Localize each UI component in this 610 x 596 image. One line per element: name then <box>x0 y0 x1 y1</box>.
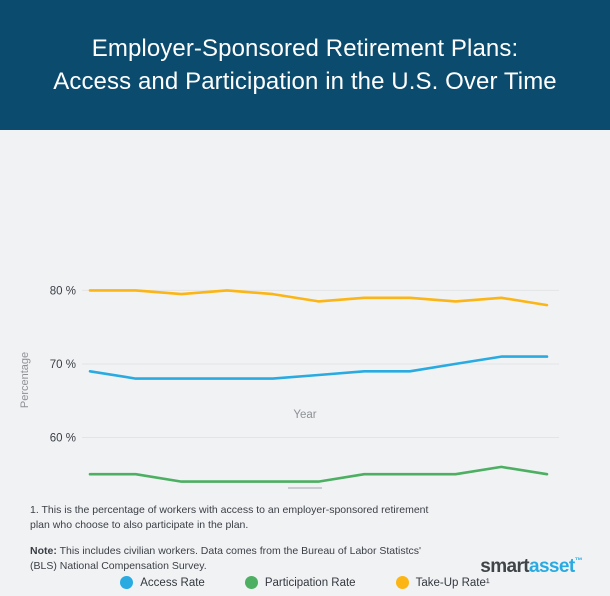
logo-text-asset: asset <box>529 556 575 578</box>
chart-footer: 1. This is the percentage of workers wit… <box>0 487 610 596</box>
y-tick-label: 80 % <box>50 285 76 297</box>
logo-trademark-icon: ™ <box>575 557 582 565</box>
y-axis-tick-labels: 50 %60 %70 %80 % <box>50 285 76 485</box>
series-line <box>90 290 547 305</box>
y-axis-title: Percentage <box>19 352 31 408</box>
footer-divider <box>288 487 322 489</box>
y-tick-label: 60 % <box>50 432 76 444</box>
x-axis-title: Year <box>293 409 316 421</box>
series-line <box>90 357 547 379</box>
gridlines <box>82 290 559 485</box>
data-series-lines <box>90 290 547 481</box>
line-chart-plot: 50 %60 %70 %80 % 20102011201220132014201… <box>0 130 610 485</box>
footnote-text: 1. This is the percentage of workers wit… <box>30 503 430 533</box>
chart-header-banner: Employer-Sponsored Retirement Plans: Acc… <box>0 0 610 130</box>
note-body: This includes civilian workers. Data com… <box>30 545 421 572</box>
page-title: Employer-Sponsored Retirement Plans: Acc… <box>41 32 568 98</box>
logo-text-smart: smart <box>480 556 529 578</box>
series-line <box>90 467 547 482</box>
y-tick-label: 70 % <box>50 359 76 371</box>
note-text: Note: This includes civilian workers. Da… <box>30 544 430 574</box>
note-label: Note: <box>30 545 57 557</box>
chart-area: 50 %60 %70 %80 % 20102011201220132014201… <box>0 130 610 485</box>
smartasset-logo: smartasset™ <box>480 556 582 578</box>
